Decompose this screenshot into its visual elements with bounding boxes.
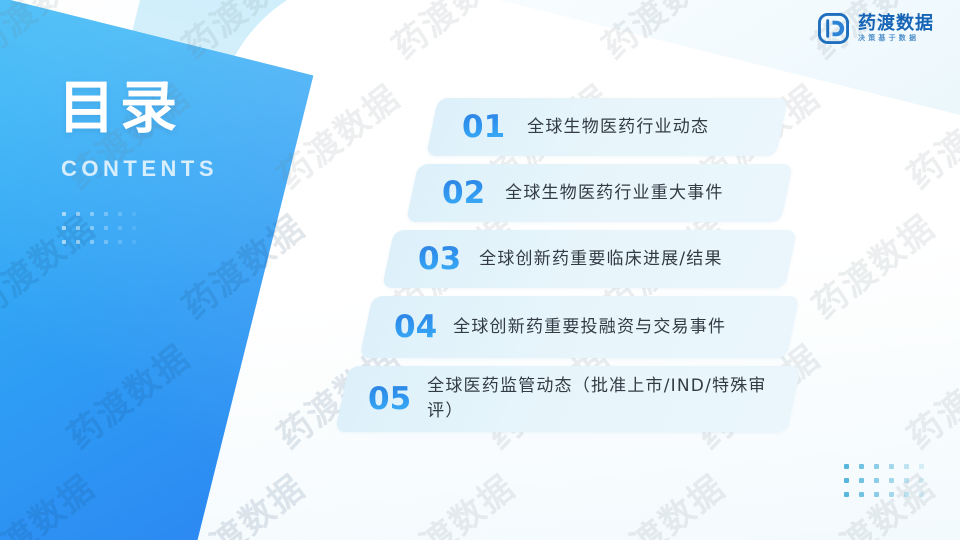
contents-item-05-inner: 05 全球医药监管动态（批准上市/IND/特殊审评） — [342, 366, 794, 432]
contents-item-05[interactable]: 05 全球医药监管动态（批准上市/IND/特殊审评） — [335, 366, 801, 432]
contents-item-04[interactable]: 04 全球创新药重要投融资与交易事件 — [359, 296, 799, 358]
contents-item-05-label: 全球医药监管动态（批准上市/IND/特殊审评） — [427, 374, 780, 423]
decorative-dot-grid-bottom-right — [844, 464, 934, 506]
dot — [844, 464, 849, 469]
dot — [919, 478, 924, 483]
slide-canvas: 药渡数据药渡数据药渡数据药渡数据药渡数据药渡数据药渡数据药渡数据药渡数据药渡数据… — [0, 0, 960, 540]
dot — [904, 464, 909, 469]
brand-logo: 药渡数据 决策基于数据 — [818, 13, 934, 44]
yaodu-logo-icon — [818, 13, 849, 44]
contents-item-03-number: 03 — [418, 241, 461, 277]
contents-item-03[interactable]: 03 全球创新药重要临床进展/结果 — [382, 230, 797, 288]
contents-item-02-inner: 02 全球生物医药行业重大事件 — [412, 164, 787, 222]
brand-logo-text: 药渡数据 决策基于数据 — [858, 15, 934, 42]
dot — [904, 478, 909, 483]
contents-item-01-inner: 01 全球生物医药行业动态 — [432, 98, 782, 156]
dot — [904, 492, 909, 497]
dot — [859, 464, 864, 469]
contents-item-03-inner: 03 全球创新药重要临床进展/结果 — [388, 230, 791, 288]
dot — [889, 464, 894, 469]
dot — [874, 478, 879, 483]
contents-item-04-label: 全球创新药重要投融资与交易事件 — [453, 315, 726, 340]
contents-item-01-label: 全球生物医药行业动态 — [527, 115, 709, 140]
dot — [889, 478, 894, 483]
dot — [844, 478, 849, 483]
contents-list: 01 全球生物医药行业动态 02 全球生物医药行业重大事件 03 全球创新药重要… — [0, 98, 960, 458]
dot — [889, 492, 894, 497]
contents-item-02-number: 02 — [442, 175, 485, 211]
contents-item-01[interactable]: 01 全球生物医药行业动态 — [426, 98, 788, 156]
contents-item-04-inner: 04 全球创新药重要投融资与交易事件 — [366, 296, 793, 358]
contents-item-02-label: 全球生物医药行业重大事件 — [505, 181, 723, 206]
contents-item-01-number: 01 — [462, 109, 505, 145]
contents-item-03-label: 全球创新药重要临床进展/结果 — [479, 247, 723, 272]
dot — [859, 478, 864, 483]
contents-item-05-number: 05 — [368, 381, 411, 417]
contents-item-02[interactable]: 02 全球生物医药行业重大事件 — [406, 164, 793, 222]
dot — [844, 492, 849, 497]
brand-tagline: 决策基于数据 — [858, 35, 934, 42]
dot — [874, 464, 879, 469]
contents-item-04-number: 04 — [394, 309, 437, 345]
dot — [919, 464, 924, 469]
brand-name: 药渡数据 — [858, 15, 934, 33]
dot — [919, 492, 924, 497]
dot — [874, 492, 879, 497]
dot — [859, 492, 864, 497]
